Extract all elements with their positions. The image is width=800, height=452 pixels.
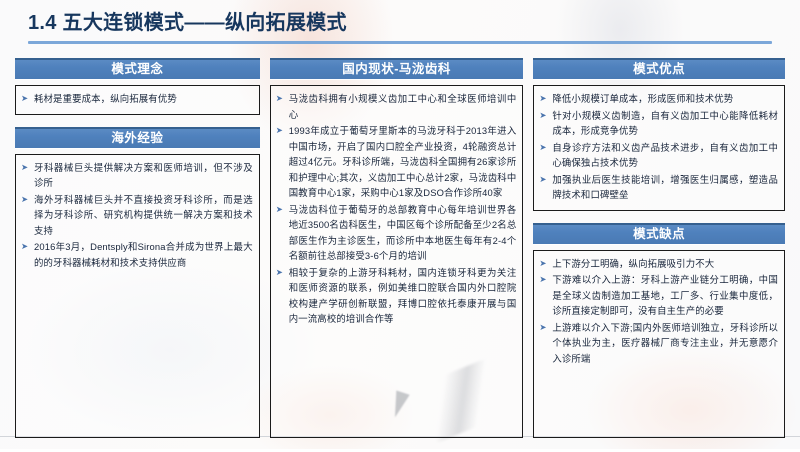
list-item: ➤ 针对小规模义齿制造，自有义齿加工中心能降低耗材成本，形成竞争优势 [538, 108, 778, 139]
section-header-model-concept: 模式理念 [15, 58, 260, 79]
triangle-right-icon: ➤ [21, 192, 28, 208]
list-item: ➤ 相较于复杂的上游牙科耗材，国内连锁牙科更为关注和医师资源的联系，例如美维口腔… [275, 265, 517, 327]
list-item-text: 加强执业后医生技能培训，增强医生归属感，塑造品牌技术和口碑壁垒 [552, 174, 778, 201]
column-gap [533, 211, 785, 223]
triangle-right-icon: ➤ [539, 140, 546, 156]
list-item: ➤ 2016年3月，Dentsply和Sirona合并成为世界上最大的的牙科器械… [20, 239, 253, 270]
section-body-model-concept: ➤ 耗材是重要成本，纵向拓展有优势 [15, 85, 260, 115]
triangle-right-icon: ➤ [276, 265, 283, 281]
list-item: ➤ 1993年成立于葡萄牙里斯本的马泷牙科于2013年进入中国市场，开启了国内口… [275, 123, 517, 201]
list-item-text: 降低小规模订单成本，形成医师和技术优势 [552, 93, 733, 104]
section-body-overseas-experience: ➤ 牙科器械巨头提供解决方案和医师培训，但不涉及诊所 ➤ 海外牙科器械巨头并不直… [15, 154, 260, 439]
list-item: ➤ 降低小规模订单成本，形成医师和技术优势 [538, 91, 778, 107]
list-item-text: 上下游分工明确，纵向拓展吸引力不大 [552, 258, 714, 269]
list-item: ➤ 耗材是重要成本，纵向拓展有优势 [20, 91, 253, 107]
list-item-text: 上游难以介入下游;国内外医师培训独立，牙科诊所以个体执业为主，医疗器械厂商专注主… [552, 322, 778, 364]
list-item-text: 马泷齿科位于葡萄牙的总部教育中心每年培训世界各地近3500名齿科医生，中国区每个… [289, 204, 517, 262]
list-item: ➤ 马泷齿科拥有小规模义齿加工中心和全球医师培训中心 [275, 91, 517, 122]
list-item-text: 牙科器械巨头提供解决方案和医师培训，但不涉及诊所 [34, 162, 253, 189]
triangle-right-icon: ➤ [539, 256, 546, 272]
column-right: 模式优点 ➤ 降低小规模订单成本，形成医师和技术优势 ➤ 针对小规模义齿制造，自… [533, 58, 785, 438]
triangle-right-icon: ➤ [539, 172, 546, 188]
bullet-list: ➤ 耗材是重要成本，纵向拓展有优势 [20, 91, 253, 107]
list-item: ➤ 下游难以介入上游：牙科上游产业链分工明确，中国是全球义齿制造加工基地，工厂多… [538, 272, 778, 319]
list-item: ➤ 上游难以介入下游;国内外医师培训独立，牙科诊所以个体执业为主，医疗器械厂商专… [538, 320, 778, 367]
list-item-text: 海外牙科器械巨头并不直接投资牙科诊所，而是选择为牙科诊所、研究机构提供统一解决方… [34, 194, 253, 236]
section-body-domestic-status: ➤ 马泷齿科拥有小规模义齿加工中心和全球医师培训中心 ➤ 1993年成立于葡萄牙… [270, 85, 524, 438]
list-item: ➤ 加强执业后医生技能培训，增强医生归属感，塑造品牌技术和口碑壁垒 [538, 172, 778, 203]
section-header-overseas-experience: 海外经验 [15, 127, 260, 148]
list-item: ➤ 马泷齿科位于葡萄牙的总部教育中心每年培训世界各地近3500名齿科医生，中国区… [275, 202, 517, 264]
list-item-text: 耗材是重要成本，纵向拓展有优势 [34, 93, 177, 104]
list-item: ➤ 自身诊疗方法和义齿产品技术进步，自有义齿加工中心确保独占技术优势 [538, 140, 778, 171]
section-body-advantages: ➤ 降低小规模订单成本，形成医师和技术优势 ➤ 针对小规模义齿制造，自有义齿加工… [533, 85, 785, 211]
list-item: ➤ 海外牙科器械巨头并不直接投资牙科诊所，而是选择为牙科诊所、研究机构提供统一解… [20, 192, 253, 239]
page-title: 1.4 五大连锁模式——纵向拓展模式 [0, 0, 800, 35]
bullet-list: ➤ 上下游分工明确，纵向拓展吸引力不大 ➤ 下游难以介入上游：牙科上游产业链分工… [538, 256, 778, 367]
title-underline [28, 41, 772, 44]
triangle-right-icon: ➤ [539, 91, 546, 107]
section-body-disadvantages: ➤ 上下游分工明确，纵向拓展吸引力不大 ➤ 下游难以介入上游：牙科上游产业链分工… [533, 250, 785, 439]
bullet-list: ➤ 降低小规模订单成本，形成医师和技术优势 ➤ 针对小规模义齿制造，自有义齿加工… [538, 91, 778, 203]
section-header-domestic-status: 国内现状-马泷齿科 [270, 58, 524, 79]
triangle-right-icon: ➤ [21, 91, 28, 107]
list-item: ➤ 上下游分工明确，纵向拓展吸引力不大 [538, 256, 778, 272]
triangle-right-icon: ➤ [276, 91, 283, 107]
list-item-text: 针对小规模义齿制造，自有义齿加工中心能降低耗材成本，形成竞争优势 [552, 110, 778, 137]
triangle-right-icon: ➤ [539, 108, 546, 124]
triangle-right-icon: ➤ [276, 202, 283, 218]
slide-header: 1.4 五大连锁模式——纵向拓展模式 [0, 0, 800, 44]
list-item-text: 自身诊疗方法和义齿产品技术进步，自有义齿加工中心确保独占技术优势 [552, 142, 778, 169]
triangle-right-icon: ➤ [21, 160, 28, 176]
list-item-text: 马泷齿科拥有小规模义齿加工中心和全球医师培训中心 [289, 93, 517, 120]
column-middle: 国内现状-马泷齿科 ➤ 马泷齿科拥有小规模义齿加工中心和全球医师培训中心 ➤ 1… [270, 58, 524, 438]
list-item-text: 下游难以介入上游：牙科上游产业链分工明确，中国是全球义齿制造加工基地，工厂多、行… [552, 274, 778, 316]
list-item-text: 相较于复杂的上游牙科耗材，国内连锁牙科更为关注和医师资源的联系，例如美维口腔联合… [289, 267, 517, 325]
triangle-right-icon: ➤ [21, 239, 28, 255]
column-gap [15, 115, 260, 127]
bullet-list: ➤ 马泷齿科拥有小规模义齿加工中心和全球医师培训中心 ➤ 1993年成立于葡萄牙… [275, 91, 517, 327]
bullet-list: ➤ 牙科器械巨头提供解决方案和医师培训，但不涉及诊所 ➤ 海外牙科器械巨头并不直… [20, 160, 253, 271]
list-item-text: 1993年成立于葡萄牙里斯本的马泷牙科于2013年进入中国市场，开启了国内口腔全… [289, 125, 517, 198]
list-item: ➤ 牙科器械巨头提供解决方案和医师培训，但不涉及诊所 [20, 160, 253, 191]
content-columns: 模式理念 ➤ 耗材是重要成本，纵向拓展有优势 海外经验 ➤ 牙科器械巨头提供解决… [0, 58, 800, 438]
triangle-right-icon: ➤ [276, 123, 283, 139]
list-item-text: 2016年3月，Dentsply和Sirona合并成为世界上最大的的牙科器械耗材… [34, 241, 253, 268]
section-header-disadvantages: 模式缺点 [533, 223, 785, 244]
triangle-right-icon: ➤ [539, 320, 546, 336]
column-left: 模式理念 ➤ 耗材是重要成本，纵向拓展有优势 海外经验 ➤ 牙科器械巨头提供解决… [15, 58, 260, 438]
triangle-right-icon: ➤ [539, 272, 546, 288]
section-header-advantages: 模式优点 [533, 58, 785, 79]
